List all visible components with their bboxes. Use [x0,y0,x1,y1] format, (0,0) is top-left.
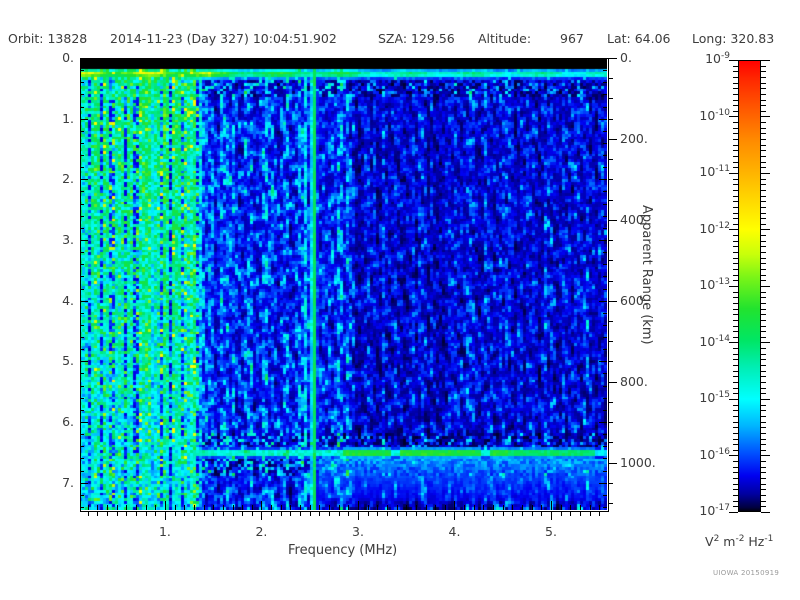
colorbar-tick [733,224,738,225]
x-tick-label: 2. [236,524,286,539]
axis-tick [426,505,427,510]
axis-tick [281,505,282,510]
axis-tick [271,511,272,516]
axis-tick [590,505,591,510]
colorbar-tick [761,365,766,366]
axis-tick [406,511,407,516]
colorbar-tick [733,506,738,507]
axis-tick [608,78,613,79]
colorbar-tick [761,292,766,293]
axis-tick [136,511,137,516]
colorbar-tick [761,433,766,434]
axis-tick [377,505,378,510]
colorbar-tick [729,512,738,513]
axis-tick [570,511,571,516]
axis-tick [80,70,84,71]
axis-tick [80,386,84,387]
axis-tick [300,505,301,510]
colorbar-tick [761,269,766,270]
x-tick-label: 1. [140,524,190,539]
colorbar-tick [761,241,766,242]
colorbar-tick [733,297,738,298]
axis-tick [80,82,84,83]
colorbar-tick-label: 10-13 [672,277,730,292]
axis-tick [603,398,607,399]
axis-tick [406,505,407,510]
axis-tick [608,58,617,59]
colorbar-tick [733,100,738,101]
y-tick-label-right: 600. [620,293,648,308]
y-tick-label-right: 1000. [620,455,656,470]
colorbar-tick-label: 10-17 [672,503,730,518]
axis-tick [580,505,581,510]
colorbar-tick [761,252,766,253]
axis-tick [608,422,613,423]
colorbar-tick [733,365,738,366]
axis-tick [175,505,176,510]
axis-tick [80,240,88,241]
axis-tick [603,458,607,459]
colorbar-tick [733,252,738,253]
x-tick-label: 3. [333,524,383,539]
axis-tick [603,143,607,144]
axis-tick [608,341,613,342]
axis-tick [599,505,600,510]
colorbar-tick [733,88,738,89]
axis-tick [608,463,617,464]
axis-tick [126,511,127,516]
colorbar-tick [733,269,738,270]
colorbar-tick [761,444,766,445]
colorbar-tick [729,455,738,456]
axis-tick [503,511,504,516]
colorbar-tick [761,405,766,406]
axis-tick [194,511,195,516]
axis-tick [608,402,613,403]
axis-tick [80,204,84,205]
axis-tick [80,458,84,459]
axis-tick [608,179,613,180]
axis-tick [599,301,607,302]
colorbar-tick [733,280,738,281]
axis-tick [80,446,84,447]
colorbar-tick [733,461,738,462]
colorbar-tick [761,133,766,134]
axis-tick [319,511,320,516]
axis-tick [80,495,84,496]
colorbar-tick [733,484,738,485]
colorbar-tick-label: 10-14 [672,334,730,349]
y-tick-label-left: 4. [22,293,74,308]
axis-tick [603,446,607,447]
axis-tick [603,313,607,314]
y-tick-label-left: 2. [22,171,74,186]
colorbar-tick [761,139,766,140]
axis-tick [80,276,84,277]
axis-tick [599,58,607,59]
axis-tick [551,511,552,520]
colorbar-tick [761,416,766,417]
colorbar-tick [733,235,738,236]
colorbar-tick [761,342,770,343]
colorbar-tick [761,320,766,321]
colorbar-tick [733,472,738,473]
axis-tick [80,507,84,508]
axis-tick [603,507,607,508]
axis-tick [175,511,176,516]
axis-tick [603,337,607,338]
colorbar-tick [733,359,738,360]
axis-tick [599,179,607,180]
colorbar-tick [761,156,766,157]
axis-tick [608,361,613,362]
axis-tick [117,505,118,510]
colorbar-tick [761,393,766,394]
colorbar-tick [761,478,766,479]
colorbar-tick [761,275,766,276]
colorbar-tick [761,467,766,468]
axis-tick [80,483,88,484]
colorbar-tick [761,122,766,123]
colorbar-tick [761,410,766,411]
axis-tick [155,511,156,516]
axis-tick [204,505,205,510]
axis-tick [165,511,166,520]
header-altitude-value: 967 [560,31,584,46]
axis-tick [80,131,84,132]
axis-tick [603,325,607,326]
colorbar-tick [733,376,738,377]
axis-tick [590,511,591,516]
axis-tick [445,511,446,516]
colorbar-tick [733,162,738,163]
axis-tick [603,264,607,265]
colorbar-tick [761,128,766,129]
axis-tick [608,483,613,484]
colorbar-tick [733,450,738,451]
colorbar-tick [733,94,738,95]
y-tick-label-left: 3. [22,232,74,247]
colorbar-tick [761,326,766,327]
colorbar-tick [733,167,738,168]
axis-tick [608,503,613,504]
colorbar-tick-label: 10-16 [672,447,730,462]
colorbar-tick [761,150,766,151]
colorbar-tick [729,173,738,174]
colorbar-tick [761,450,766,451]
axis-tick [603,289,607,290]
colorbar-tick [761,77,766,78]
colorbar-tick [761,71,766,72]
axis-tick [608,139,617,140]
colorbar-tick [733,331,738,332]
axis-tick [603,191,607,192]
axis-tick [213,505,214,510]
axis-tick [339,505,340,510]
colorbar-tick [733,196,738,197]
axis-tick [603,107,607,108]
axis-tick [608,260,613,261]
axis-tick [603,82,607,83]
axis-tick [532,511,533,516]
axis-tick [603,167,607,168]
colorbar-tick-label: 10-11 [672,164,730,179]
axis-tick [474,505,475,510]
colorbar-tick [761,207,766,208]
colorbar-tick [761,297,766,298]
y-tick-label-left: 7. [22,475,74,490]
axis-tick [223,505,224,510]
axis-tick [348,505,349,510]
axis-tick [80,349,84,350]
axis-tick [252,511,253,516]
spectrogram-canvas [80,58,607,510]
axis-tick [397,505,398,510]
colorbar-tick [761,145,766,146]
colorbar-tick [733,275,738,276]
colorbar-tick-label: 10-12 [672,221,730,236]
colorbar-tick [733,303,738,304]
colorbar-tick [733,179,738,180]
axis-tick [426,511,427,516]
axis-tick [261,511,262,520]
axis-tick [80,143,84,144]
colorbar-tick [761,190,766,191]
colorbar-tick [761,455,770,456]
axis-tick [80,289,84,290]
axis-tick [603,228,607,229]
colorbar-tick [733,83,738,84]
axis-tick [603,386,607,387]
axis-tick [107,511,108,516]
colorbar-tick [733,111,738,112]
colorbar-tick [733,433,738,434]
colorbar-tick [733,122,738,123]
axis-tick [194,505,195,510]
colorbar-tick [761,489,766,490]
axis-tick [80,398,84,399]
colorbar-tick [733,71,738,72]
axis-tick [512,511,513,516]
colorbar-tick [733,184,738,185]
colorbar-tick [761,484,766,485]
axis-tick [233,505,234,510]
axis-tick [329,505,330,510]
colorbar-tick [761,371,766,372]
axis-tick [358,511,359,520]
colorbar-tick [733,156,738,157]
colorbar-tick [733,382,738,383]
axis-tick [541,511,542,516]
colorbar-tick [761,184,766,185]
axis-tick [532,505,533,510]
axis-tick [242,511,243,516]
axis-tick [599,240,607,241]
header-altitude-label: Altitude: [478,31,531,46]
axis-tick [358,501,359,510]
axis-tick [397,511,398,516]
axis-tick [608,301,617,302]
axis-tick [483,505,484,510]
axis-tick [155,505,156,510]
colorbar-tick [733,444,738,445]
axis-tick [107,505,108,510]
axis-tick [146,511,147,516]
axis-tick [368,505,369,510]
colorbar-tick [733,348,738,349]
colorbar-tick [729,342,738,343]
colorbar-tick [761,501,766,502]
colorbar-tick [729,60,738,61]
colorbar-tick [733,439,738,440]
colorbar-tick [733,133,738,134]
colorbar-tick [761,83,766,84]
axis-tick [80,216,84,217]
colorbar-tick [761,512,770,513]
colorbar-tick [733,190,738,191]
colorbar-gradient [738,60,761,512]
axis-tick [522,511,523,516]
y-tick-label-right: 200. [620,131,648,146]
header-longitude: Long: 320.83 [692,31,774,46]
axis-tick [608,220,617,221]
axis-tick [80,228,84,229]
colorbar-tick [761,388,766,389]
axis-tick [271,505,272,510]
axis-tick [339,511,340,516]
axis-tick [242,505,243,510]
axis-tick [80,325,84,326]
axis-tick [416,511,417,516]
colorbar-tick [733,427,738,428]
colorbar-tick [733,201,738,202]
axis-tick [165,501,166,510]
colorbar-tick [761,235,766,236]
axis-tick [290,511,291,516]
axis-tick [310,505,311,510]
colorbar-tick [733,309,738,310]
colorbar-tick [761,213,766,214]
axis-tick [136,505,137,510]
colorbar-tick [761,286,770,287]
colorbar-tick [761,331,766,332]
axis-tick [329,511,330,516]
axis-tick [474,511,475,516]
colorbar-tick-label: 10-9 [672,51,730,66]
colorbar-tick [761,105,766,106]
y-tick-label-right: 0. [620,50,632,65]
colorbar-tick [733,501,738,502]
colorbar-tick [761,506,766,507]
axis-tick [88,505,89,510]
axis-tick [319,505,320,510]
colorbar-tick [761,314,766,315]
colorbar-tick [733,393,738,394]
colorbar-tick [761,116,770,117]
y-tick-label-left: 1. [22,111,74,126]
axis-tick [608,159,613,160]
axis-tick [213,511,214,516]
axis-tick [80,191,84,192]
colorbar-tick [733,326,738,327]
y-tick-label-right: 800. [620,374,648,389]
axis-tick [348,511,349,516]
axis-tick [80,313,84,314]
colorbar-tick [761,399,770,400]
axis-tick [252,505,253,510]
axis-tick [80,94,84,95]
colorbar-tick [761,472,766,473]
axis-tick [608,119,613,120]
colorbar-tick [761,280,766,281]
axis-tick [599,361,607,362]
colorbar-tick [761,376,766,377]
colorbar-tick [733,467,738,468]
y-tick-label-left: 5. [22,353,74,368]
axis-tick [80,337,84,338]
axis-tick [80,119,88,120]
axis-tick [483,511,484,516]
colorbar-tick [761,263,766,264]
colorbar-tick-label: 10-15 [672,390,730,405]
axis-tick [435,505,436,510]
colorbar-tick [761,167,766,168]
axis-tick [146,505,147,510]
colorbar-tick [761,422,766,423]
axis-tick [608,442,613,443]
colorbar-tick [733,354,738,355]
axis-tick [80,373,84,374]
colorbar-tick [733,241,738,242]
colorbar-tick [733,218,738,219]
axis-tick [608,281,613,282]
colorbar-tick [733,77,738,78]
colorbar-tick [729,116,738,117]
axis-tick [580,511,581,516]
axis-tick [204,511,205,516]
axis-tick [454,501,455,510]
axis-tick [493,505,494,510]
colorbar-tick [761,173,770,174]
colorbar-tick [733,145,738,146]
axis-tick [117,511,118,516]
colorbar-tick [761,60,770,61]
axis-tick [80,167,84,168]
axis-tick [387,511,388,516]
axis-tick [603,216,607,217]
colorbar-tick [761,427,766,428]
axis-tick [599,511,600,516]
axis-tick [80,252,84,253]
axis-tick [603,131,607,132]
axis-tick [493,511,494,516]
axis-tick [300,511,301,516]
colorbar-tick [761,100,766,101]
colorbar-tick [733,128,738,129]
axis-tick [80,410,84,411]
colorbar-tick [733,320,738,321]
axis-tick [281,511,282,516]
axis-tick [80,179,88,180]
axis-tick [387,505,388,510]
header-datetime: 2014-11-23 (Day 327) 10:04:51.902 [110,31,337,46]
colorbar-tick [733,337,738,338]
colorbar-tick [733,150,738,151]
colorbar-tick [733,246,738,247]
axis-tick [80,155,84,156]
axis-tick [416,505,417,510]
colorbar-tick [761,246,766,247]
